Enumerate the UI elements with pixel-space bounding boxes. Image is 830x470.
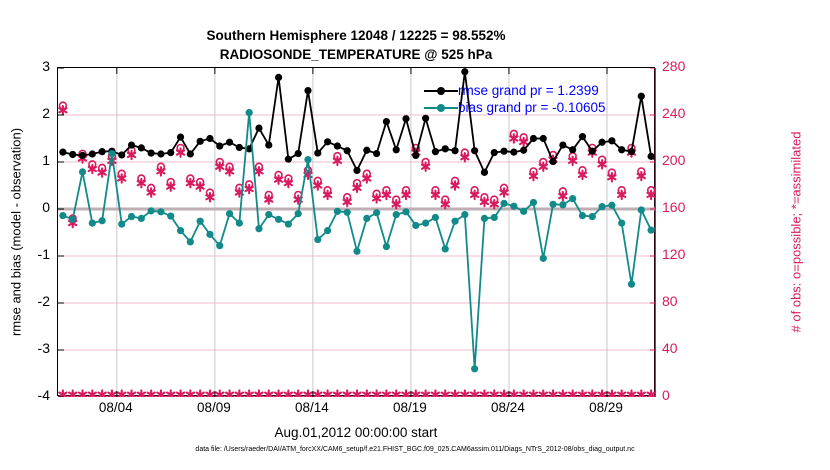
plot-area [57, 67, 655, 396]
y-tick-left-4: -1 [38, 246, 50, 262]
legend-swatch-rmse [424, 84, 458, 98]
legend-item-rmse[interactable]: rmse grand pr = 1.2399 [424, 82, 652, 99]
y-tick-right-1: 240 [662, 105, 685, 121]
plot-canvas [58, 68, 656, 397]
y-axis-right-label-wrap: # of obs: o=possible; *=assimilated [786, 67, 806, 396]
x-tick-1: 08/09 [197, 400, 231, 415]
legend-marker-icon [437, 87, 445, 95]
legend-swatch-bias [424, 101, 458, 115]
y-axis-left-label: rmse and bias (model - observation) [9, 127, 24, 335]
x-tick-5: 08/29 [589, 400, 623, 415]
y-tick-left-2: 1 [42, 152, 50, 168]
data-file-note: data file: /Users/raeder/DAI/ATM_forcXX/… [0, 446, 830, 453]
x-axis-label: Aug.01,2012 00:00:00 start [57, 425, 655, 440]
chart-legend[interactable]: rmse grand pr = 1.2399bias grand pr = -0… [424, 82, 652, 116]
y-tick-left-3: 0 [42, 199, 50, 215]
y-tick-left-1: 2 [42, 105, 50, 121]
figure-container: Southern Hemisphere 12048 / 12225 = 98.5… [0, 0, 830, 470]
legend-label: bias grand pr = -0.10605 [458, 100, 605, 115]
y-tick-right-2: 200 [662, 152, 685, 168]
legend-label: rmse grand pr = 1.2399 [458, 83, 599, 98]
x-tick-2: 08/14 [295, 400, 329, 415]
y-tick-right-3: 160 [662, 199, 685, 215]
y-axis-left-label-wrap: rmse and bias (model - observation) [6, 67, 26, 396]
y-tick-right-7: 0 [662, 387, 670, 403]
y-tick-right-6: 40 [662, 340, 678, 356]
y-tick-left-7: -4 [38, 387, 50, 403]
y-axis-right-label: # of obs: o=possible; *=assimilated [789, 131, 804, 332]
y-tick-right-4: 120 [662, 246, 685, 262]
legend-marker-icon [437, 104, 445, 112]
y-tick-left-0: 3 [42, 58, 50, 74]
chart-title: Southern Hemisphere 12048 / 12225 = 98.5… [57, 26, 655, 64]
x-tick-3: 08/19 [393, 400, 427, 415]
y-tick-left-6: -3 [38, 340, 50, 356]
title-line-2: RADIOSONDE_TEMPERATURE @ 525 hPa [57, 45, 655, 64]
x-tick-0: 08/04 [99, 400, 133, 415]
title-line-1: Southern Hemisphere 12048 / 12225 = 98.5… [57, 26, 655, 45]
legend-item-bias[interactable]: bias grand pr = -0.10605 [424, 99, 652, 116]
y-tick-left-5: -2 [38, 293, 50, 309]
x-tick-4: 08/24 [491, 400, 525, 415]
y-tick-right-5: 80 [662, 293, 678, 309]
y-tick-right-0: 280 [662, 58, 685, 74]
